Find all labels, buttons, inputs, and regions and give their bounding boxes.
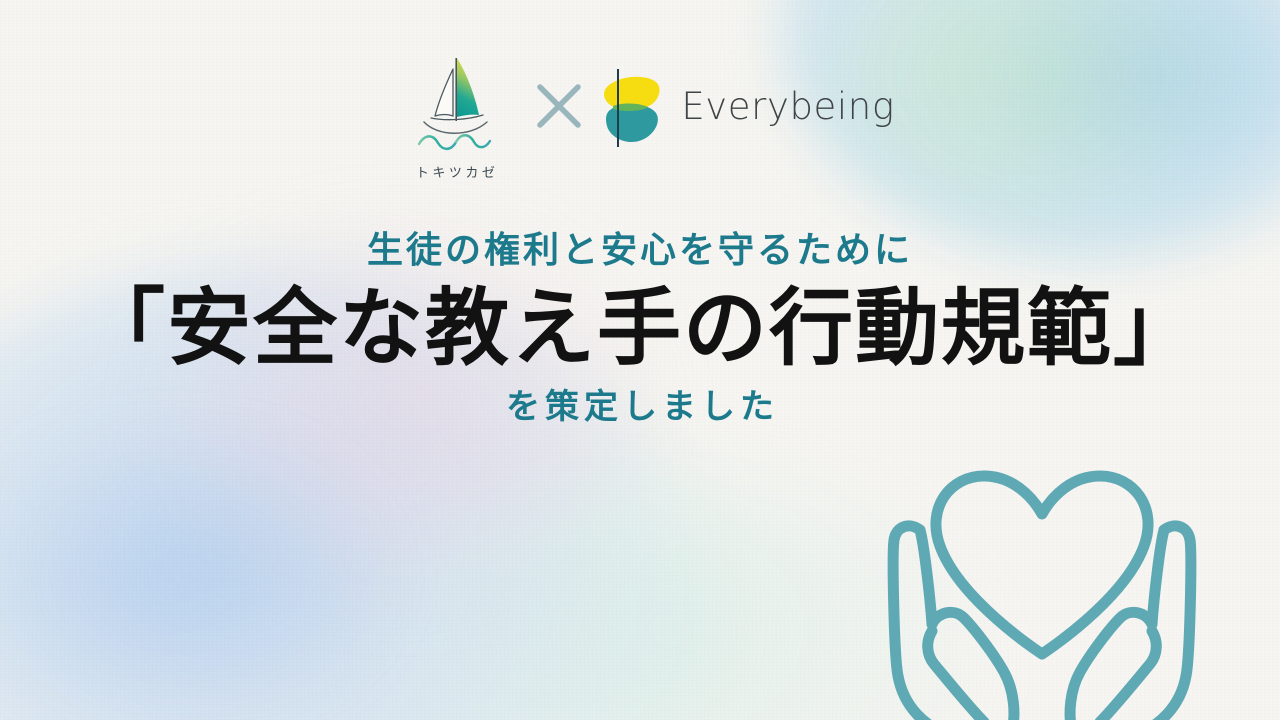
headline-block: 生徒の権利と安心を守るために 「安全な教え手の行動規範」 を策定しました bbox=[0, 228, 1280, 429]
hands-heart-illustration bbox=[842, 426, 1242, 720]
brand-tokikaze-label: トキツカゼ bbox=[412, 162, 498, 181]
background-blob-mid-left bbox=[0, 430, 400, 720]
collaboration-x-icon bbox=[531, 78, 587, 134]
brand-tokikaze: トキツカゼ bbox=[385, 52, 525, 181]
brand-everybeing: Everybeing bbox=[601, 65, 894, 149]
logo-lockup: トキツカゼ Everybeing bbox=[0, 52, 1280, 181]
everybeing-logo-icon bbox=[601, 65, 665, 149]
headline-closer: を策定しました bbox=[0, 386, 1280, 429]
sailboat-icon bbox=[407, 52, 503, 160]
headline-kicker: 生徒の権利と安心を守るために bbox=[0, 228, 1280, 273]
hands-holding-heart-icon bbox=[842, 426, 1242, 720]
page-title: 「安全な教え手の行動規範」 bbox=[0, 279, 1280, 378]
slide-canvas: トキツカゼ Everybeing 生徒の権利と安心を守るために 「安全な教え手の… bbox=[0, 0, 1280, 720]
everybeing-wordmark: Everybeing bbox=[681, 88, 894, 125]
